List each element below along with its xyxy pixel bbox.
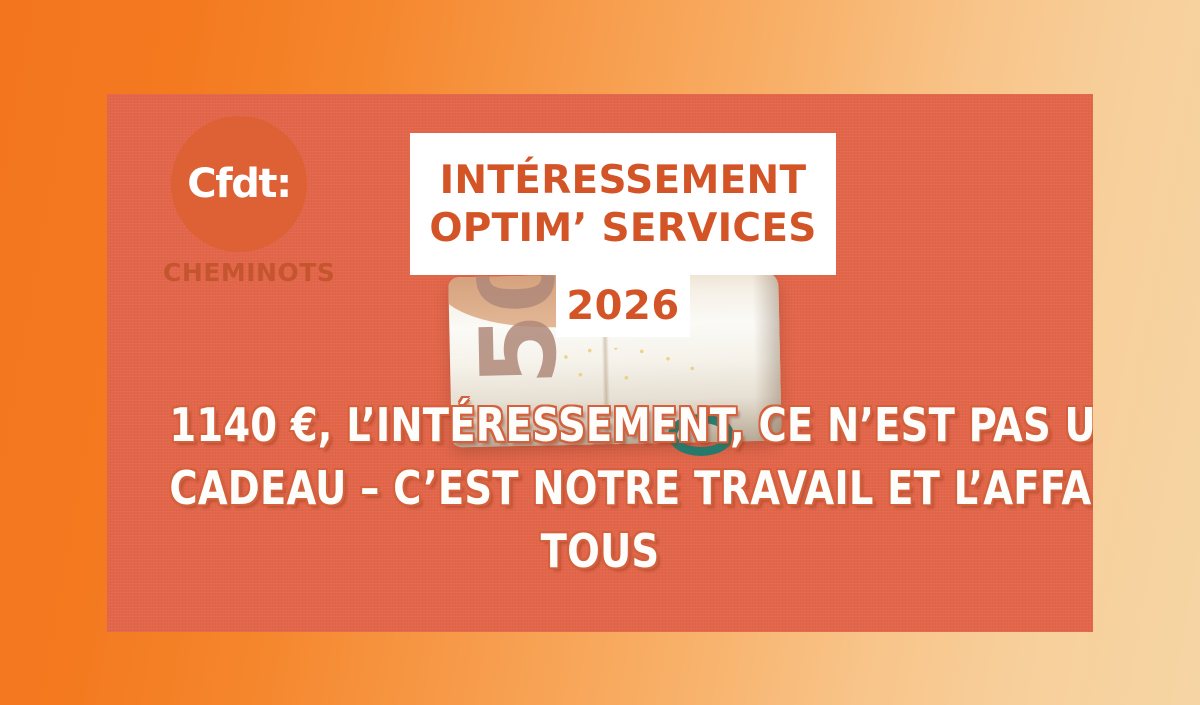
poster-card: 50 EUR Cfdt: CHEMINOTS INTÉRESSEMENT OPT…	[107, 94, 1093, 632]
title-line-2: OPTIM’ SERVICES	[429, 205, 816, 253]
logo-wordmark: Cfdt:	[171, 116, 307, 252]
title-box: INTÉRESSEMENT OPTIM’ SERVICES	[410, 133, 836, 275]
logo-sub-label: CHEMINOTS	[147, 258, 367, 287]
headline-block: 1140 €, L’INTÉRESSEMENT, CE N’EST PAS UN…	[137, 394, 1063, 583]
headline-line-1: 1140 €, L’INTÉRESSEMENT, CE N’EST PAS UN	[169, 394, 1030, 457]
banknote-stars-detail	[560, 346, 731, 390]
headline-line-3: TOUS	[169, 520, 1030, 583]
poster-canvas: 50 EUR Cfdt: CHEMINOTS INTÉRESSEMENT OPT…	[0, 0, 1200, 705]
year-box: 2026	[556, 275, 690, 337]
banknote-denomination: 50	[470, 273, 568, 387]
cfdt-cheminots-logo: Cfdt: CHEMINOTS	[147, 112, 367, 302]
year-text: 2026	[566, 283, 679, 329]
headline-line-2: CADEAU – C’EST NOTRE TRAVAIL ET L’AFFAIR…	[169, 457, 1030, 520]
title-line-1: INTÉRESSEMENT	[440, 157, 807, 205]
